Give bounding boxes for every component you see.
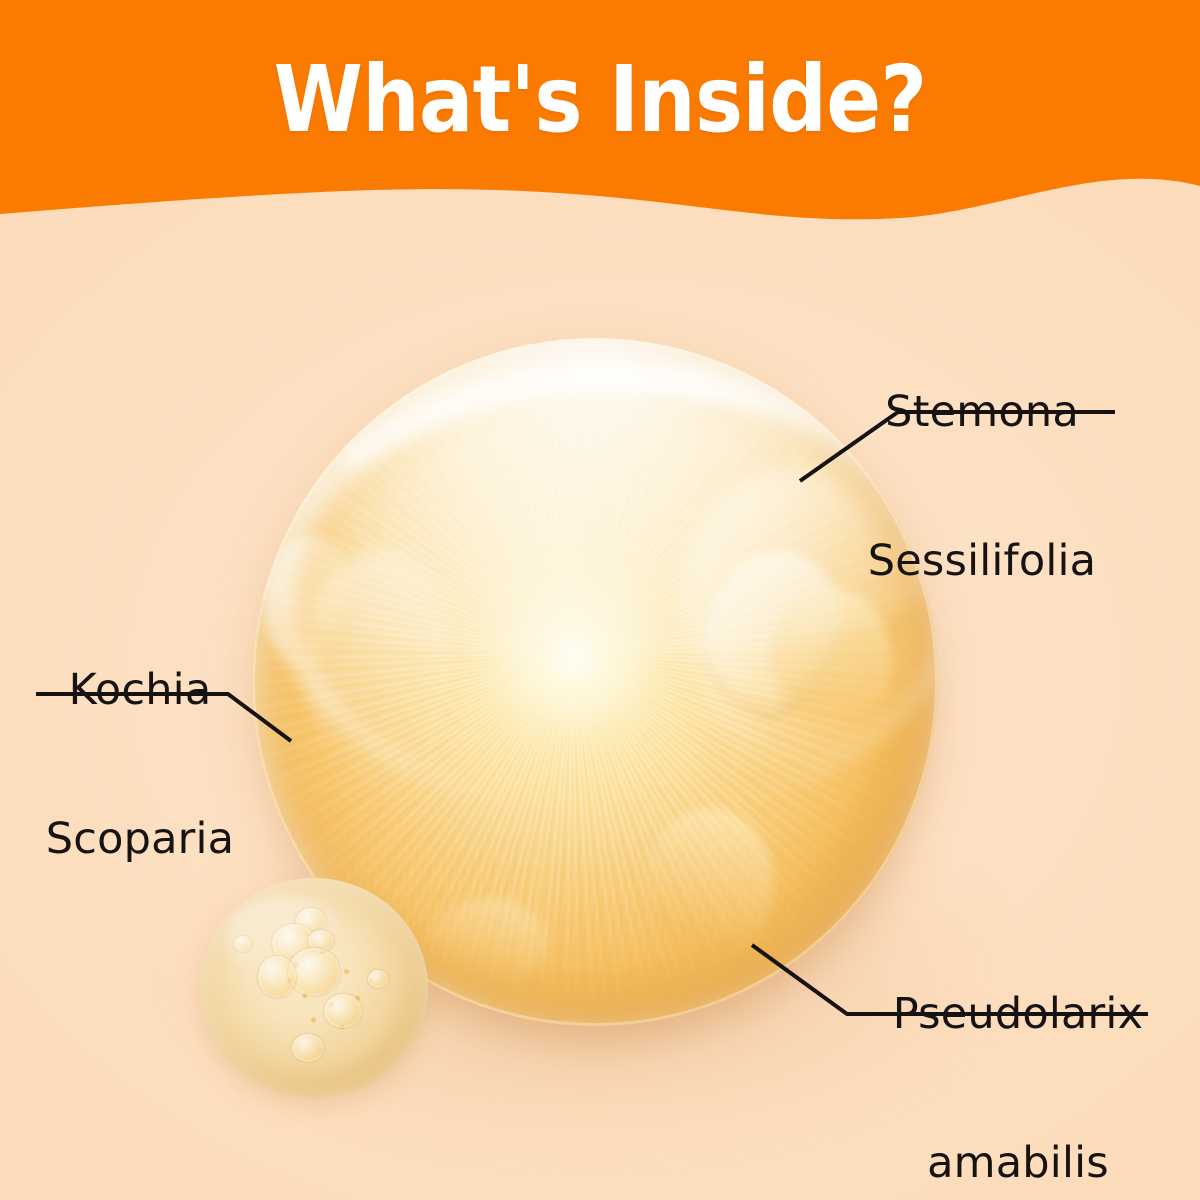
callout-pseudolarix-line1: Pseudolarix	[858, 990, 1178, 1040]
callout-stemona-line2: Sessilifolia	[812, 537, 1152, 587]
droplet-bubble	[292, 1034, 324, 1062]
callout-label-stemona: Stemona Sessilifolia	[812, 288, 1152, 687]
product-ingredient-infographic: What's Inside?	[0, 0, 1200, 1200]
callout-kochia-line1: Kochia	[10, 666, 270, 716]
callout-label-kochia: Kochia Scoparia	[10, 566, 270, 965]
callout-pseudolarix-line2: amabilis	[858, 1139, 1178, 1189]
header-banner: What's Inside?	[0, 0, 1200, 240]
callout-label-pseudolarix: Pseudolarix amabilis	[858, 890, 1178, 1200]
page-title: What's Inside?	[72, 52, 1128, 149]
droplet-bubble	[324, 994, 362, 1028]
callout-stemona-line1: Stemona	[812, 388, 1152, 438]
callout-kochia-line2: Scoparia	[10, 815, 270, 865]
droplet-bubble	[368, 970, 388, 988]
